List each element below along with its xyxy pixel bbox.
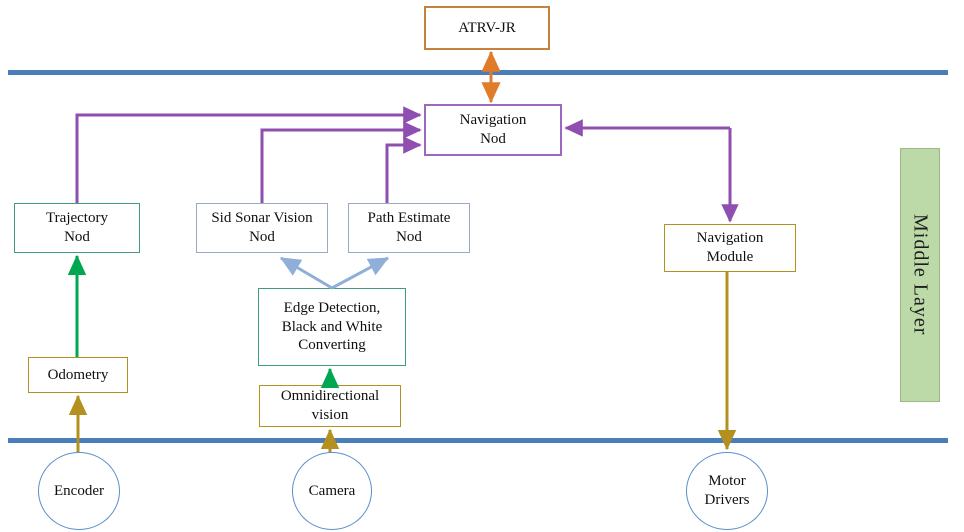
node-trajectory-nod-label: Trajectory Nod bbox=[46, 209, 108, 247]
node-motor-drivers[interactable]: Motor Drivers bbox=[686, 452, 768, 530]
node-navigation-nod[interactable]: Navigation Nod bbox=[424, 104, 562, 156]
node-motor-drivers-label: Motor Drivers bbox=[705, 472, 750, 510]
node-encoder-label: Encoder bbox=[54, 482, 104, 501]
edge-trajectory-to-navigation bbox=[77, 115, 420, 203]
node-navigation-nod-label: Navigation Nod bbox=[460, 111, 527, 149]
node-omnidirectional-vision-label: Omnidirectional vision bbox=[281, 387, 379, 425]
connector-layer bbox=[0, 0, 964, 532]
node-edge-detection-label: Edge Detection, Black and White Converti… bbox=[282, 299, 383, 355]
node-odometry-label: Odometry bbox=[48, 366, 109, 385]
edge-edgedetect-to-path bbox=[332, 258, 388, 288]
node-navigation-module[interactable]: Navigation Module bbox=[664, 224, 796, 272]
edge-edgedetect-to-sonar bbox=[281, 258, 332, 288]
diagram-canvas: Middle Layer ATRV-JR Navigation Nod Traj… bbox=[0, 0, 964, 532]
node-sid-sonar-vision-nod[interactable]: Sid Sonar Vision Nod bbox=[196, 203, 328, 253]
node-path-estimate-nod[interactable]: Path Estimate Nod bbox=[348, 203, 470, 253]
node-path-estimate-nod-label: Path Estimate Nod bbox=[368, 209, 451, 247]
node-navigation-module-label: Navigation Module bbox=[697, 229, 764, 267]
node-trajectory-nod[interactable]: Trajectory Nod bbox=[14, 203, 140, 253]
node-atrv-jr[interactable]: ATRV-JR bbox=[424, 6, 550, 50]
middle-layer-band: Middle Layer bbox=[900, 148, 940, 402]
edge-sonar-to-navigation bbox=[262, 130, 420, 203]
node-edge-detection[interactable]: Edge Detection, Black and White Converti… bbox=[258, 288, 406, 366]
node-camera-label: Camera bbox=[309, 482, 356, 501]
node-atrv-jr-label: ATRV-JR bbox=[458, 19, 515, 38]
node-sid-sonar-vision-nod-label: Sid Sonar Vision Nod bbox=[211, 209, 312, 247]
middle-layer-label: Middle Layer bbox=[909, 214, 932, 335]
upper-divider bbox=[8, 70, 948, 75]
lower-divider bbox=[8, 438, 948, 443]
node-camera[interactable]: Camera bbox=[292, 452, 372, 530]
node-omnidirectional-vision[interactable]: Omnidirectional vision bbox=[259, 385, 401, 427]
node-odometry[interactable]: Odometry bbox=[28, 357, 128, 393]
edge-path-to-navigation bbox=[387, 145, 420, 203]
node-encoder[interactable]: Encoder bbox=[38, 452, 120, 530]
